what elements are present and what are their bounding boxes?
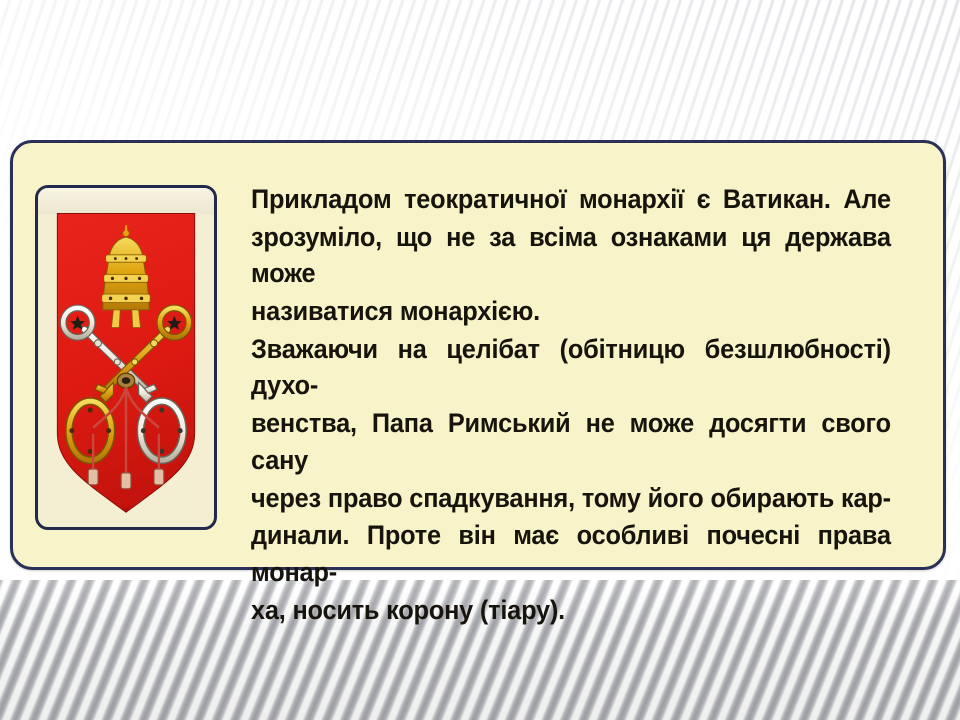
- content-card: Прикладом теократичної монархії є Ватика…: [10, 140, 946, 570]
- keys-crossing-knot: [117, 373, 134, 388]
- paragraph-line-5: венства, Папа Римський не може досягти с…: [251, 405, 891, 478]
- emblem-frame: [35, 185, 217, 530]
- paragraph-line-7: динали. Проте він має особливі почесні п…: [251, 517, 891, 590]
- paragraph-line-2: зрозуміло, що не за всіма ознаками ця де…: [251, 219, 891, 292]
- paragraph-line-3: називатися монархією.: [251, 293, 891, 330]
- paragraph-line-6: через право спадкування, тому його обира…: [251, 480, 891, 517]
- vatican-coat-of-arms-icon: [38, 188, 214, 527]
- paragraph-line-1: Прикладом теократичної монархії є Ватика…: [251, 181, 891, 218]
- paragraph-line-8: ха, носить корону (тіару).: [251, 592, 891, 629]
- emblem-column: [13, 143, 229, 530]
- paragraph-line-4: Зважаючи на целібат (обітницю безшлюбнос…: [251, 331, 891, 404]
- slide-canvas: Прикладом теократичної монархії є Ватика…: [0, 0, 960, 720]
- text-column: Прикладом теократичної монархії є Ватика…: [229, 143, 943, 628]
